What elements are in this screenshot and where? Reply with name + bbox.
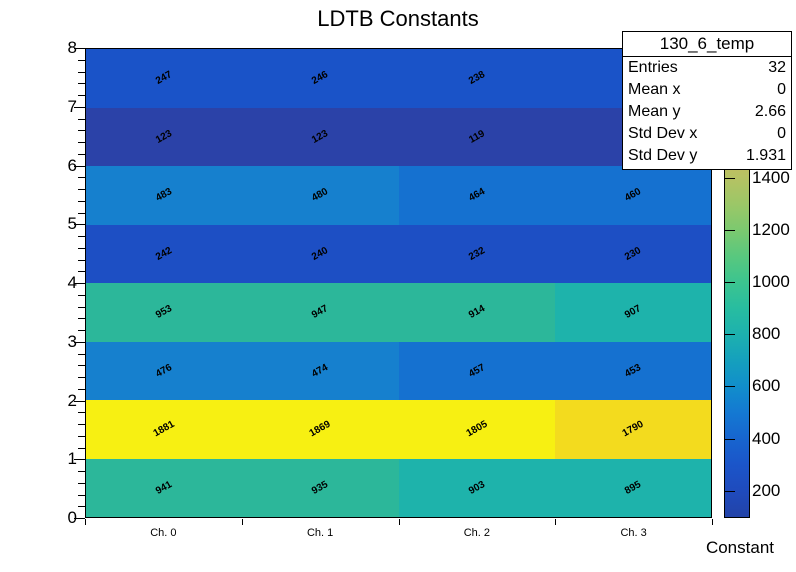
y-axis-tick-label: 2 bbox=[68, 391, 77, 411]
stats-row-key: Mean y bbox=[628, 101, 680, 123]
heatmap-cell-value: 476 bbox=[154, 362, 174, 380]
heatmap-cell-value: 230 bbox=[623, 245, 643, 263]
heatmap-cell-value: 903 bbox=[467, 479, 487, 497]
y-axis-minor-tick bbox=[78, 495, 85, 496]
y-axis: 012345678 bbox=[0, 48, 85, 519]
y-axis-minor-tick bbox=[78, 213, 85, 214]
page-title: LDTB Constants bbox=[0, 6, 796, 32]
heatmap-cell-value: 480 bbox=[310, 186, 330, 204]
x-axis-tick bbox=[399, 519, 400, 525]
heatmap-cell-value: 453 bbox=[623, 362, 643, 380]
y-axis-minor-tick bbox=[78, 248, 85, 249]
y-axis-minor-tick bbox=[78, 177, 85, 178]
palette-tick bbox=[724, 439, 735, 440]
palette-tick-label: 800 bbox=[752, 324, 780, 344]
heatmap-cell-value: 246 bbox=[310, 69, 330, 87]
palette-tick-label: 400 bbox=[752, 429, 780, 449]
heatmap-cell[interactable]: 474 bbox=[242, 342, 398, 401]
heatmap-cell-value: 941 bbox=[154, 479, 174, 497]
y-axis-tick-label: 7 bbox=[68, 97, 77, 117]
heatmap-cell[interactable]: 903 bbox=[399, 459, 555, 518]
heatmap-cell[interactable]: 483 bbox=[86, 166, 242, 225]
stats-row: Std Dev y1.931 bbox=[628, 145, 786, 167]
y-axis-minor-tick bbox=[78, 83, 85, 84]
y-axis-minor-tick bbox=[78, 119, 85, 120]
heatmap-cell[interactable]: 1805 bbox=[399, 400, 555, 459]
y-axis-tick-label: 3 bbox=[68, 332, 77, 352]
heatmap-cell-value: 953 bbox=[154, 303, 174, 321]
x-axis-tick-label: Ch. 2 bbox=[464, 527, 490, 539]
heatmap-cell[interactable]: 457 bbox=[399, 342, 555, 401]
palette-tick bbox=[724, 282, 735, 283]
y-axis-minor-tick bbox=[78, 412, 85, 413]
y-axis-minor-tick bbox=[78, 236, 85, 237]
heatmap-cell-value: 907 bbox=[623, 303, 643, 321]
stats-row: Std Dev x0 bbox=[628, 123, 786, 145]
heatmap-grid: 2472462381231231194834804644602422402322… bbox=[86, 49, 711, 517]
root-canvas: LDTB Constants 012345678 247246238123123… bbox=[0, 0, 796, 572]
x-axis-tick-label: Ch. 3 bbox=[620, 527, 646, 539]
heatmap-cell-value: 123 bbox=[310, 128, 330, 146]
heatmap-cell[interactable]: 453 bbox=[555, 342, 711, 401]
heatmap-cell[interactable]: 246 bbox=[242, 49, 398, 108]
heatmap-cell-value: 240 bbox=[310, 245, 330, 263]
heatmap-cell-value: 464 bbox=[467, 186, 487, 204]
heatmap-cell[interactable]: 476 bbox=[86, 342, 242, 401]
heatmap-cell-value: 947 bbox=[310, 303, 330, 321]
stats-row: Entries32 bbox=[628, 57, 786, 79]
y-axis-minor-tick bbox=[78, 307, 85, 308]
y-axis-minor-tick bbox=[78, 377, 85, 378]
palette-tick bbox=[724, 491, 735, 492]
palette-tick-label: 1200 bbox=[752, 220, 790, 240]
heatmap-cell-value: 474 bbox=[310, 362, 330, 380]
heatmap-cell[interactable]: 123 bbox=[242, 108, 398, 167]
heatmap-cell[interactable]: 953 bbox=[86, 283, 242, 342]
palette-tick-label: 600 bbox=[752, 376, 780, 396]
heatmap-cell-value: 1805 bbox=[464, 419, 489, 439]
heatmap-cell[interactable]: 941 bbox=[86, 459, 242, 518]
y-axis-minor-tick bbox=[78, 189, 85, 190]
y-axis-minor-tick bbox=[78, 72, 85, 73]
heatmap-cell[interactable]: 907 bbox=[555, 283, 711, 342]
y-axis-minor-tick bbox=[78, 201, 85, 202]
x-axis-tick bbox=[712, 519, 713, 525]
x-axis-tick bbox=[242, 519, 243, 525]
heatmap-cell[interactable]: 1869 bbox=[242, 400, 398, 459]
y-axis-minor-tick bbox=[78, 483, 85, 484]
y-axis-tick-label: 5 bbox=[68, 214, 77, 234]
x-axis-tick bbox=[555, 519, 556, 525]
heatmap-cell[interactable]: 242 bbox=[86, 225, 242, 284]
x-axis-title: Constant bbox=[706, 538, 774, 558]
y-axis-minor-tick bbox=[78, 271, 85, 272]
heatmap-cell-value: 247 bbox=[154, 69, 174, 87]
stats-row-key: Entries bbox=[628, 57, 678, 79]
y-axis-minor-tick bbox=[78, 330, 85, 331]
heatmap-cell[interactable]: 119 bbox=[399, 108, 555, 167]
stats-row: Mean y2.66 bbox=[628, 101, 786, 123]
stats-box[interactable]: 130_6_temp Entries32Mean x0Mean y2.66Std… bbox=[622, 31, 792, 170]
y-axis-minor-tick bbox=[78, 154, 85, 155]
heatmap-cell-value: 914 bbox=[467, 303, 487, 321]
heatmap-cell[interactable]: 247 bbox=[86, 49, 242, 108]
y-axis-tick-label: 4 bbox=[68, 273, 77, 293]
heatmap-cell-value: 119 bbox=[467, 128, 486, 145]
heatmap-cell-value: 895 bbox=[623, 479, 643, 497]
stats-row-key: Std Dev y bbox=[628, 145, 697, 167]
y-axis-minor-tick bbox=[78, 424, 85, 425]
y-axis-minor-tick bbox=[78, 506, 85, 507]
heatmap-cell-value: 242 bbox=[154, 245, 174, 263]
y-axis-minor-tick bbox=[78, 436, 85, 437]
heatmap-cell[interactable]: 480 bbox=[242, 166, 398, 225]
heatmap-cell[interactable]: 460 bbox=[555, 166, 711, 225]
y-axis-minor-tick bbox=[78, 260, 85, 261]
y-axis-minor-tick bbox=[78, 142, 85, 143]
palette-tick-label: 200 bbox=[752, 481, 780, 501]
y-axis-minor-tick bbox=[78, 389, 85, 390]
y-axis-minor-tick bbox=[78, 471, 85, 472]
heatmap-cell[interactable]: 914 bbox=[399, 283, 555, 342]
x-axis-tick-label: Ch. 1 bbox=[307, 527, 333, 539]
heatmap-cell[interactable]: 123 bbox=[86, 108, 242, 167]
heatmap-cell-value: 460 bbox=[623, 186, 643, 204]
y-axis-tick-label: 0 bbox=[68, 508, 77, 528]
x-axis: Ch. 0Ch. 1Ch. 2Ch. 3 bbox=[85, 519, 713, 559]
stats-row-value: 0 bbox=[777, 123, 786, 145]
palette-tick bbox=[724, 178, 735, 179]
y-axis-tick-label: 6 bbox=[68, 156, 77, 176]
y-axis-tick-label: 1 bbox=[68, 449, 77, 469]
x-axis-tick bbox=[85, 519, 86, 525]
heatmap-cell[interactable]: 947 bbox=[242, 283, 398, 342]
heatmap-cell-value: 935 bbox=[310, 479, 330, 497]
y-axis-minor-tick bbox=[78, 365, 85, 366]
y-axis-minor-tick bbox=[78, 295, 85, 296]
heatmap-cell[interactable]: 935 bbox=[242, 459, 398, 518]
heatmap-cell-value: 457 bbox=[467, 362, 487, 380]
palette-tick-label: 1000 bbox=[752, 272, 790, 292]
palette-tick bbox=[724, 334, 735, 335]
stats-row-value: 1.931 bbox=[746, 145, 786, 167]
heatmap-cell[interactable]: 232 bbox=[399, 225, 555, 284]
y-axis-minor-tick bbox=[78, 448, 85, 449]
heatmap-cell-value: 123 bbox=[154, 128, 174, 146]
stats-row-key: Mean x bbox=[628, 79, 680, 101]
y-axis-minor-tick bbox=[78, 318, 85, 319]
heatmap-cell[interactable]: 238 bbox=[399, 49, 555, 108]
stats-row: Mean x0 bbox=[628, 79, 786, 101]
x-axis-tick-label: Ch. 0 bbox=[150, 527, 176, 539]
heatmap-cell[interactable]: 1790 bbox=[555, 400, 711, 459]
heatmap-cell[interactable]: 1881 bbox=[86, 400, 242, 459]
heatmap-cell-value: 1881 bbox=[152, 419, 177, 439]
heatmap-cell-value: 232 bbox=[467, 245, 487, 263]
stats-row-value: 0 bbox=[777, 79, 786, 101]
stats-row-value: 2.66 bbox=[755, 101, 786, 123]
y-axis-minor-tick bbox=[78, 60, 85, 61]
heatmap-cell[interactable]: 464 bbox=[399, 166, 555, 225]
heatmap-cell-value: 238 bbox=[467, 69, 487, 87]
heatmap-cell-value: 1869 bbox=[308, 419, 333, 439]
y-axis-tick-label: 8 bbox=[68, 38, 77, 58]
stats-rows: Entries32Mean x0Mean y2.66Std Dev x0Std … bbox=[623, 57, 791, 167]
heatmap-cell[interactable]: 895 bbox=[555, 459, 711, 518]
palette-tick bbox=[724, 386, 735, 387]
heatmap-cell[interactable]: 230 bbox=[555, 225, 711, 284]
palette-tick-label: 1400 bbox=[752, 168, 790, 188]
heatmap-cell-value: 483 bbox=[154, 186, 174, 204]
stats-row-key: Std Dev x bbox=[628, 123, 697, 145]
stats-row-value: 32 bbox=[768, 57, 786, 79]
heatmap-plot-area[interactable]: 2472462381231231194834804644602422402322… bbox=[85, 48, 712, 518]
heatmap-cell[interactable]: 240 bbox=[242, 225, 398, 284]
y-axis-minor-tick bbox=[78, 95, 85, 96]
heatmap-cell-value: 1790 bbox=[620, 419, 645, 439]
y-axis-minor-tick bbox=[78, 354, 85, 355]
y-axis-minor-tick bbox=[78, 130, 85, 131]
stats-title: 130_6_temp bbox=[623, 32, 791, 57]
palette-tick bbox=[724, 230, 735, 231]
